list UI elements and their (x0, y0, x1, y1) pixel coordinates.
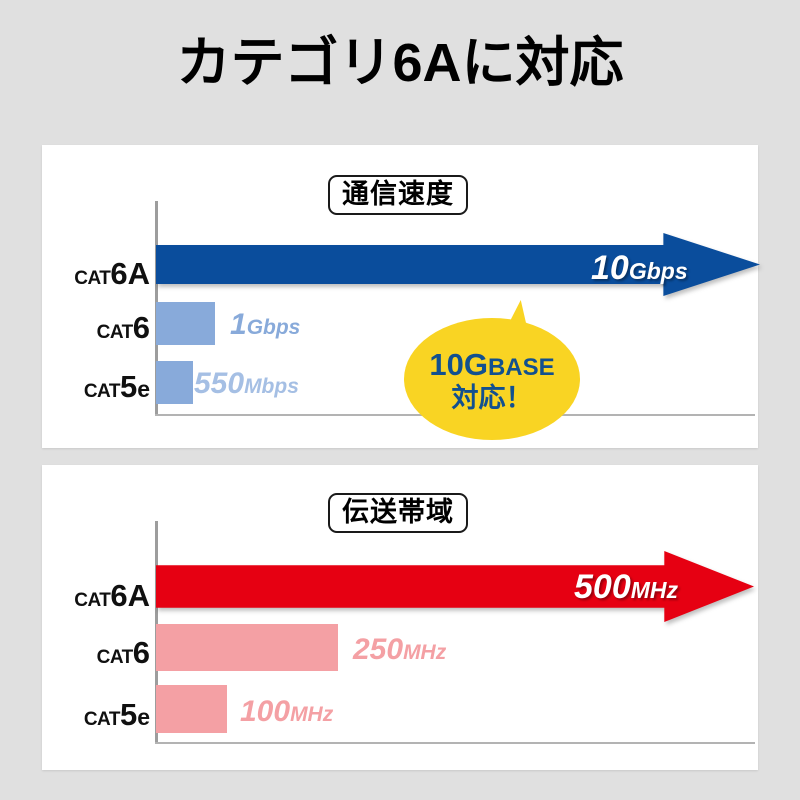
chart-bandwidth-label-cat6: CAT6 (45, 637, 150, 668)
cat-suffix: e (137, 704, 150, 730)
value-unit: Mbps (244, 375, 299, 398)
callout-base: BASE (488, 354, 555, 381)
chart-speed-badge: 通信速度 (328, 175, 468, 215)
value-number: 10 (591, 249, 629, 287)
chart-speed-label-cat6a: CAT6A (45, 258, 150, 289)
value-unit: Gbps (629, 258, 688, 284)
cat-main: 6 (110, 578, 127, 613)
callout-bubble-10gbase: 10GBASE 対応！ (404, 300, 580, 440)
value-number: 550 (194, 367, 244, 400)
chart-speed-bar-cat6 (156, 302, 215, 345)
cat-suffix: A (128, 256, 150, 291)
cat-prefix: CAT (74, 268, 110, 289)
callout-text: 10GBASE 対応！ (404, 348, 580, 413)
cat-prefix: CAT (74, 590, 110, 611)
chart-speed-value-cat6: 1Gbps (230, 310, 300, 340)
callout-line-1: 10GBASE (404, 348, 580, 383)
chart-bandwidth-value-cat6a: 500MHz (574, 570, 678, 604)
panel-transmission-bandwidth: 伝送帯域 CAT6A 500MHz CAT6 250MHz CAT5e 100M… (42, 465, 758, 770)
cat-prefix: CAT (97, 647, 133, 668)
value-unit: MHz (403, 641, 446, 664)
cat-main: 6 (133, 310, 150, 345)
value-unit: MHz (631, 577, 678, 603)
chart-speed-label-cat6: CAT6 (45, 312, 150, 343)
value-unit: Gbps (247, 316, 301, 339)
chart-speed-value-cat6a: 10Gbps (591, 251, 688, 285)
callout-10g: 10G (429, 347, 488, 382)
cat-prefix: CAT (97, 322, 133, 343)
chart-bandwidth-x-axis (155, 742, 755, 744)
chart-speed-value-cat5e: 550Mbps (194, 369, 299, 399)
chart-speed: 通信速度 CAT6A 10Gbps CAT6 1Gbps CAT5e 550Mb… (42, 145, 758, 448)
chart-bandwidth-badge: 伝送帯域 (328, 493, 468, 533)
cat-main: 5 (120, 697, 137, 732)
chart-bandwidth-bar-cat5e (156, 685, 227, 733)
page-title: カテゴリ6Aに対応 (0, 36, 800, 90)
chart-speed-label-cat5e: CAT5e (45, 371, 150, 402)
chart-bandwidth: 伝送帯域 CAT6A 500MHz CAT6 250MHz CAT5e 100M… (42, 465, 758, 770)
chart-bandwidth-value-cat6: 250MHz (353, 635, 446, 665)
cat-prefix: CAT (84, 381, 120, 402)
chart-speed-bar-cat5e (156, 361, 193, 404)
value-number: 100 (240, 695, 290, 728)
value-number: 1 (230, 308, 247, 341)
chart-bandwidth-value-cat5e: 100MHz (240, 697, 333, 727)
value-unit: MHz (290, 703, 333, 726)
callout-line-2: 対応！ (404, 383, 580, 413)
cat-suffix: e (137, 376, 150, 402)
cat-prefix: CAT (84, 709, 120, 730)
cat-main: 5 (120, 369, 137, 404)
cat-suffix: A (128, 578, 150, 613)
panel-communication-speed: 通信速度 CAT6A 10Gbps CAT6 1Gbps CAT5e 550Mb… (42, 145, 758, 448)
cat-main: 6 (133, 635, 150, 670)
chart-bandwidth-label-cat5e: CAT5e (45, 699, 150, 730)
value-number: 250 (353, 633, 403, 666)
chart-bandwidth-bar-cat6 (156, 624, 338, 671)
cat-main: 6 (110, 256, 127, 291)
chart-bandwidth-label-cat6a: CAT6A (45, 580, 150, 611)
value-number: 500 (574, 568, 631, 606)
